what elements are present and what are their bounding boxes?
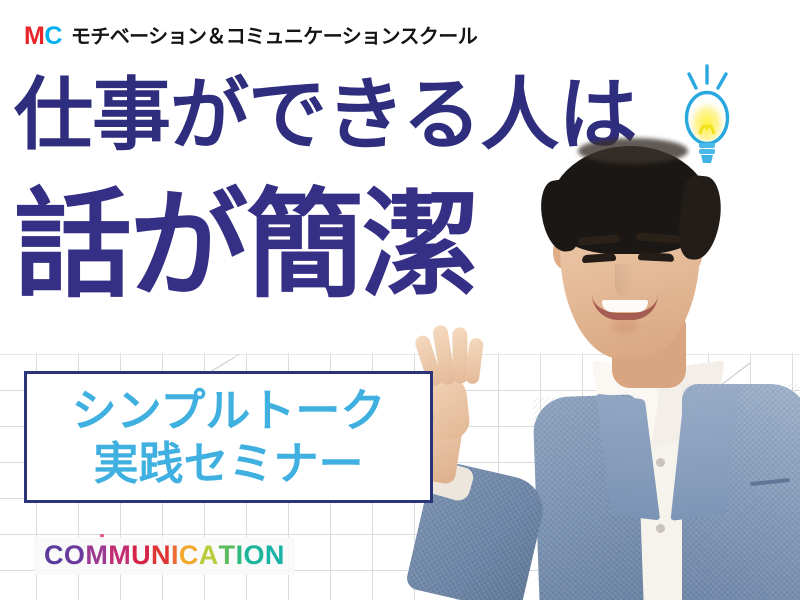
wordmark-letter: M — [108, 542, 131, 569]
wordmark-letter: U — [131, 542, 151, 569]
seminar-title-box: シンプルトーク 実践セミナー — [24, 371, 433, 503]
wordmark-letter: O — [243, 542, 264, 569]
presenter-shirt-button — [656, 524, 665, 533]
logo-letter-c: C — [44, 24, 62, 49]
presenter-hair-wisp — [578, 138, 688, 164]
wordmark-letter: M — [85, 542, 108, 569]
presenter-shirt-button — [656, 458, 665, 467]
wordmark-letter: O — [64, 542, 85, 569]
presenter-cheek — [612, 318, 638, 334]
wordmark-letter: A — [199, 542, 219, 569]
wordmark-letter: C — [44, 542, 64, 569]
presenter-body — [532, 362, 800, 600]
seminar-title-line-1: シンプルトーク — [72, 384, 386, 437]
seminar-banner: M C モチベーション＆コミュニケーションスクール 仕事ができる人は 話が簡潔 — [0, 0, 800, 600]
wordmark-letter: N — [151, 542, 171, 569]
logo-school-name: モチベーション＆コミュニケーションスクール — [71, 27, 477, 47]
headline-line-2: 話が簡潔 — [14, 186, 478, 304]
presenter-nose — [615, 264, 635, 296]
wordmark-letter: I — [236, 542, 244, 569]
brand-logo: M C モチベーション＆コミュニケーションスクール — [24, 24, 477, 49]
communication-wordmark: COMMUNICATION — [34, 537, 295, 575]
wordmark-letter: I — [171, 542, 179, 569]
wordmark-letter: T — [219, 542, 236, 569]
presenter-photo — [520, 140, 800, 600]
wordmark-letter: C — [179, 542, 199, 569]
seminar-title-line-2: 実践セミナー — [93, 437, 363, 490]
wordmark-letter: N — [265, 542, 285, 569]
logo-letter-m: M — [24, 24, 44, 49]
